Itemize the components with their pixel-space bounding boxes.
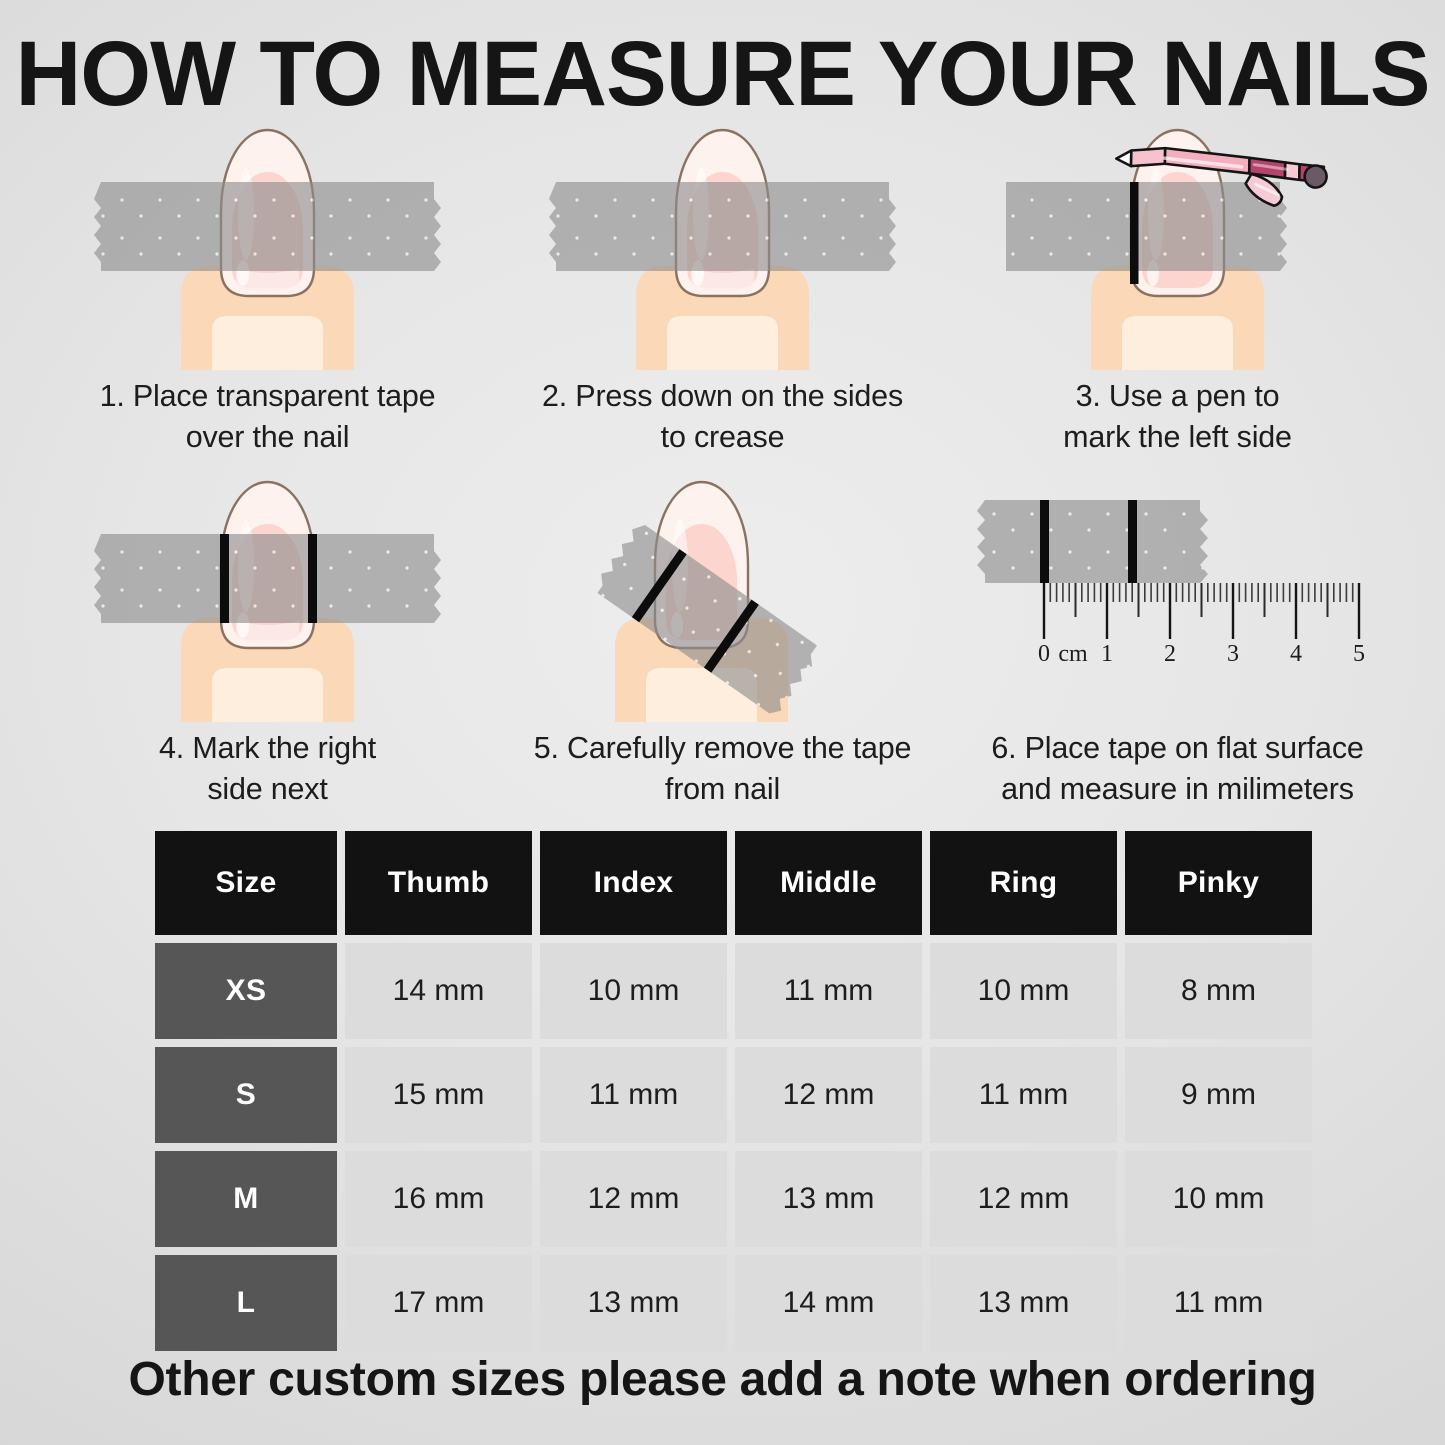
row-size-xs: XS [155, 943, 337, 1039]
step-4-caption: 4. Mark the right side next [40, 728, 495, 810]
table-row: S 15 mm 11 mm 12 mm 11 mm 9 mm [155, 1047, 1324, 1143]
cell-l-pinky: 11 mm [1125, 1255, 1312, 1351]
step-2-caption-line1: 2. Press down on the sides [495, 376, 950, 417]
cell-xs-middle: 11 mm [735, 943, 922, 1039]
ruler-label-4: 4 [1290, 641, 1302, 667]
header-ring: Ring [930, 831, 1117, 935]
cell-m-thumb: 16 mm [345, 1151, 532, 1247]
infographic-page: HOW TO MEASURE YOUR NAILS [0, 0, 1445, 1445]
step-3-caption-line1: 3. Use a pen to [950, 376, 1405, 417]
step-5: 5. Carefully remove the tape from nail [495, 470, 950, 810]
ruler-label-3: 3 [1227, 641, 1239, 667]
header-thumb: Thumb [345, 831, 532, 935]
ruler-label-5: 5 [1353, 641, 1365, 667]
cell-xs-ring: 10 mm [930, 943, 1117, 1039]
mark-left [1040, 500, 1049, 583]
step-1-illustration [40, 118, 495, 370]
tape-strip [977, 500, 1208, 583]
mark-right [1128, 500, 1137, 583]
row-size-m: M [155, 1151, 337, 1247]
cell-s-ring: 11 mm [930, 1047, 1117, 1143]
step-4: 4. Mark the right side next [40, 470, 495, 810]
ruler-labels: 012345cm [1038, 641, 1365, 667]
cell-l-index: 13 mm [540, 1255, 727, 1351]
step-3: 3. Use a pen to mark the left side [950, 118, 1405, 458]
mark-right [308, 534, 317, 623]
row-size-s: S [155, 1047, 337, 1143]
row-size-l: L [155, 1255, 337, 1351]
table-header-row: Size Thumb Index Middle Ring Pinky [155, 831, 1324, 935]
header-middle: Middle [735, 831, 922, 935]
step-4-caption-line2: side next [40, 769, 495, 810]
step-6-caption: 6. Place tape on flat surface and measur… [950, 728, 1405, 810]
cell-m-index: 12 mm [540, 1151, 727, 1247]
step-1: 1. Place transparent tape over the nail [40, 118, 495, 458]
tape-on-ruler-icon: 012345cm [950, 470, 1405, 722]
step-6: 012345cm 6. Place tape on flat surface a… [950, 470, 1405, 810]
step-2-caption: 2. Press down on the sides to crease [495, 376, 950, 458]
cell-l-thumb: 17 mm [345, 1255, 532, 1351]
step-4-illustration [40, 470, 495, 722]
step-3-illustration [950, 118, 1405, 370]
header-pinky: Pinky [1125, 831, 1312, 935]
step-1-caption-line2: over the nail [40, 417, 495, 458]
table-row: M 16 mm 12 mm 13 mm 12 mm 10 mm [155, 1151, 1324, 1247]
steps-grid: 1. Place transparent tape over the nail [40, 118, 1405, 818]
finger-with-tape-icon [40, 118, 495, 370]
header-index: Index [540, 831, 727, 935]
step-6-caption-line2: and measure in milimeters [950, 769, 1405, 810]
finger-with-tape-peeled-icon [495, 470, 950, 722]
step-1-caption-line1: 1. Place transparent tape [40, 376, 495, 417]
step-6-illustration: 012345cm [950, 470, 1405, 722]
ruler-label-2: 2 [1164, 641, 1176, 667]
step-3-caption: 3. Use a pen to mark the left side [950, 376, 1405, 458]
cell-l-ring: 13 mm [930, 1255, 1117, 1351]
size-chart-table: Size Thumb Index Middle Ring Pinky XS 14… [155, 831, 1324, 1359]
step-5-caption: 5. Carefully remove the tape from nail [495, 728, 950, 810]
step-5-illustration [495, 470, 950, 722]
step-5-caption-line1: 5. Carefully remove the tape [495, 728, 950, 769]
step-2: 2. Press down on the sides to crease [495, 118, 950, 458]
ruler-ticks [1044, 583, 1359, 639]
cell-s-thumb: 15 mm [345, 1047, 532, 1143]
cell-m-pinky: 10 mm [1125, 1151, 1312, 1247]
header-size: Size [155, 831, 337, 935]
table-row: XS 14 mm 10 mm 11 mm 10 mm 8 mm [155, 943, 1324, 1039]
cell-m-ring: 12 mm [930, 1151, 1117, 1247]
ruler-unit-label: cm [1058, 641, 1088, 667]
page-title: HOW TO MEASURE YOUR NAILS [7, 22, 1438, 127]
table-row: L 17 mm 13 mm 14 mm 13 mm 11 mm [155, 1255, 1324, 1351]
step-3-caption-line2: mark the left side [950, 417, 1405, 458]
step-2-caption-line2: to crease [495, 417, 950, 458]
finger-with-tape-creased-icon [495, 118, 950, 370]
cell-s-pinky: 9 mm [1125, 1047, 1312, 1143]
ruler-label-1: 1 [1101, 641, 1113, 667]
cell-m-middle: 13 mm [735, 1151, 922, 1247]
cell-xs-index: 10 mm [540, 943, 727, 1039]
footer-note: Other custom sizes please add a note whe… [0, 1352, 1445, 1407]
cell-xs-thumb: 14 mm [345, 943, 532, 1039]
finger-with-tape-and-pen-icon [950, 118, 1405, 370]
cell-s-index: 11 mm [540, 1047, 727, 1143]
step-4-caption-line1: 4. Mark the right [40, 728, 495, 769]
mark-left [220, 534, 229, 623]
step-5-caption-line2: from nail [495, 769, 950, 810]
cell-xs-pinky: 8 mm [1125, 943, 1312, 1039]
pen-mark [1130, 182, 1139, 284]
step-1-caption: 1. Place transparent tape over the nail [40, 376, 495, 458]
cell-s-middle: 12 mm [735, 1047, 922, 1143]
step-2-illustration [495, 118, 950, 370]
cell-l-middle: 14 mm [735, 1255, 922, 1351]
ruler-label-0: 0 [1038, 641, 1050, 667]
finger-with-tape-two-marks-icon [40, 470, 495, 722]
step-6-caption-line1: 6. Place tape on flat surface [950, 728, 1405, 769]
